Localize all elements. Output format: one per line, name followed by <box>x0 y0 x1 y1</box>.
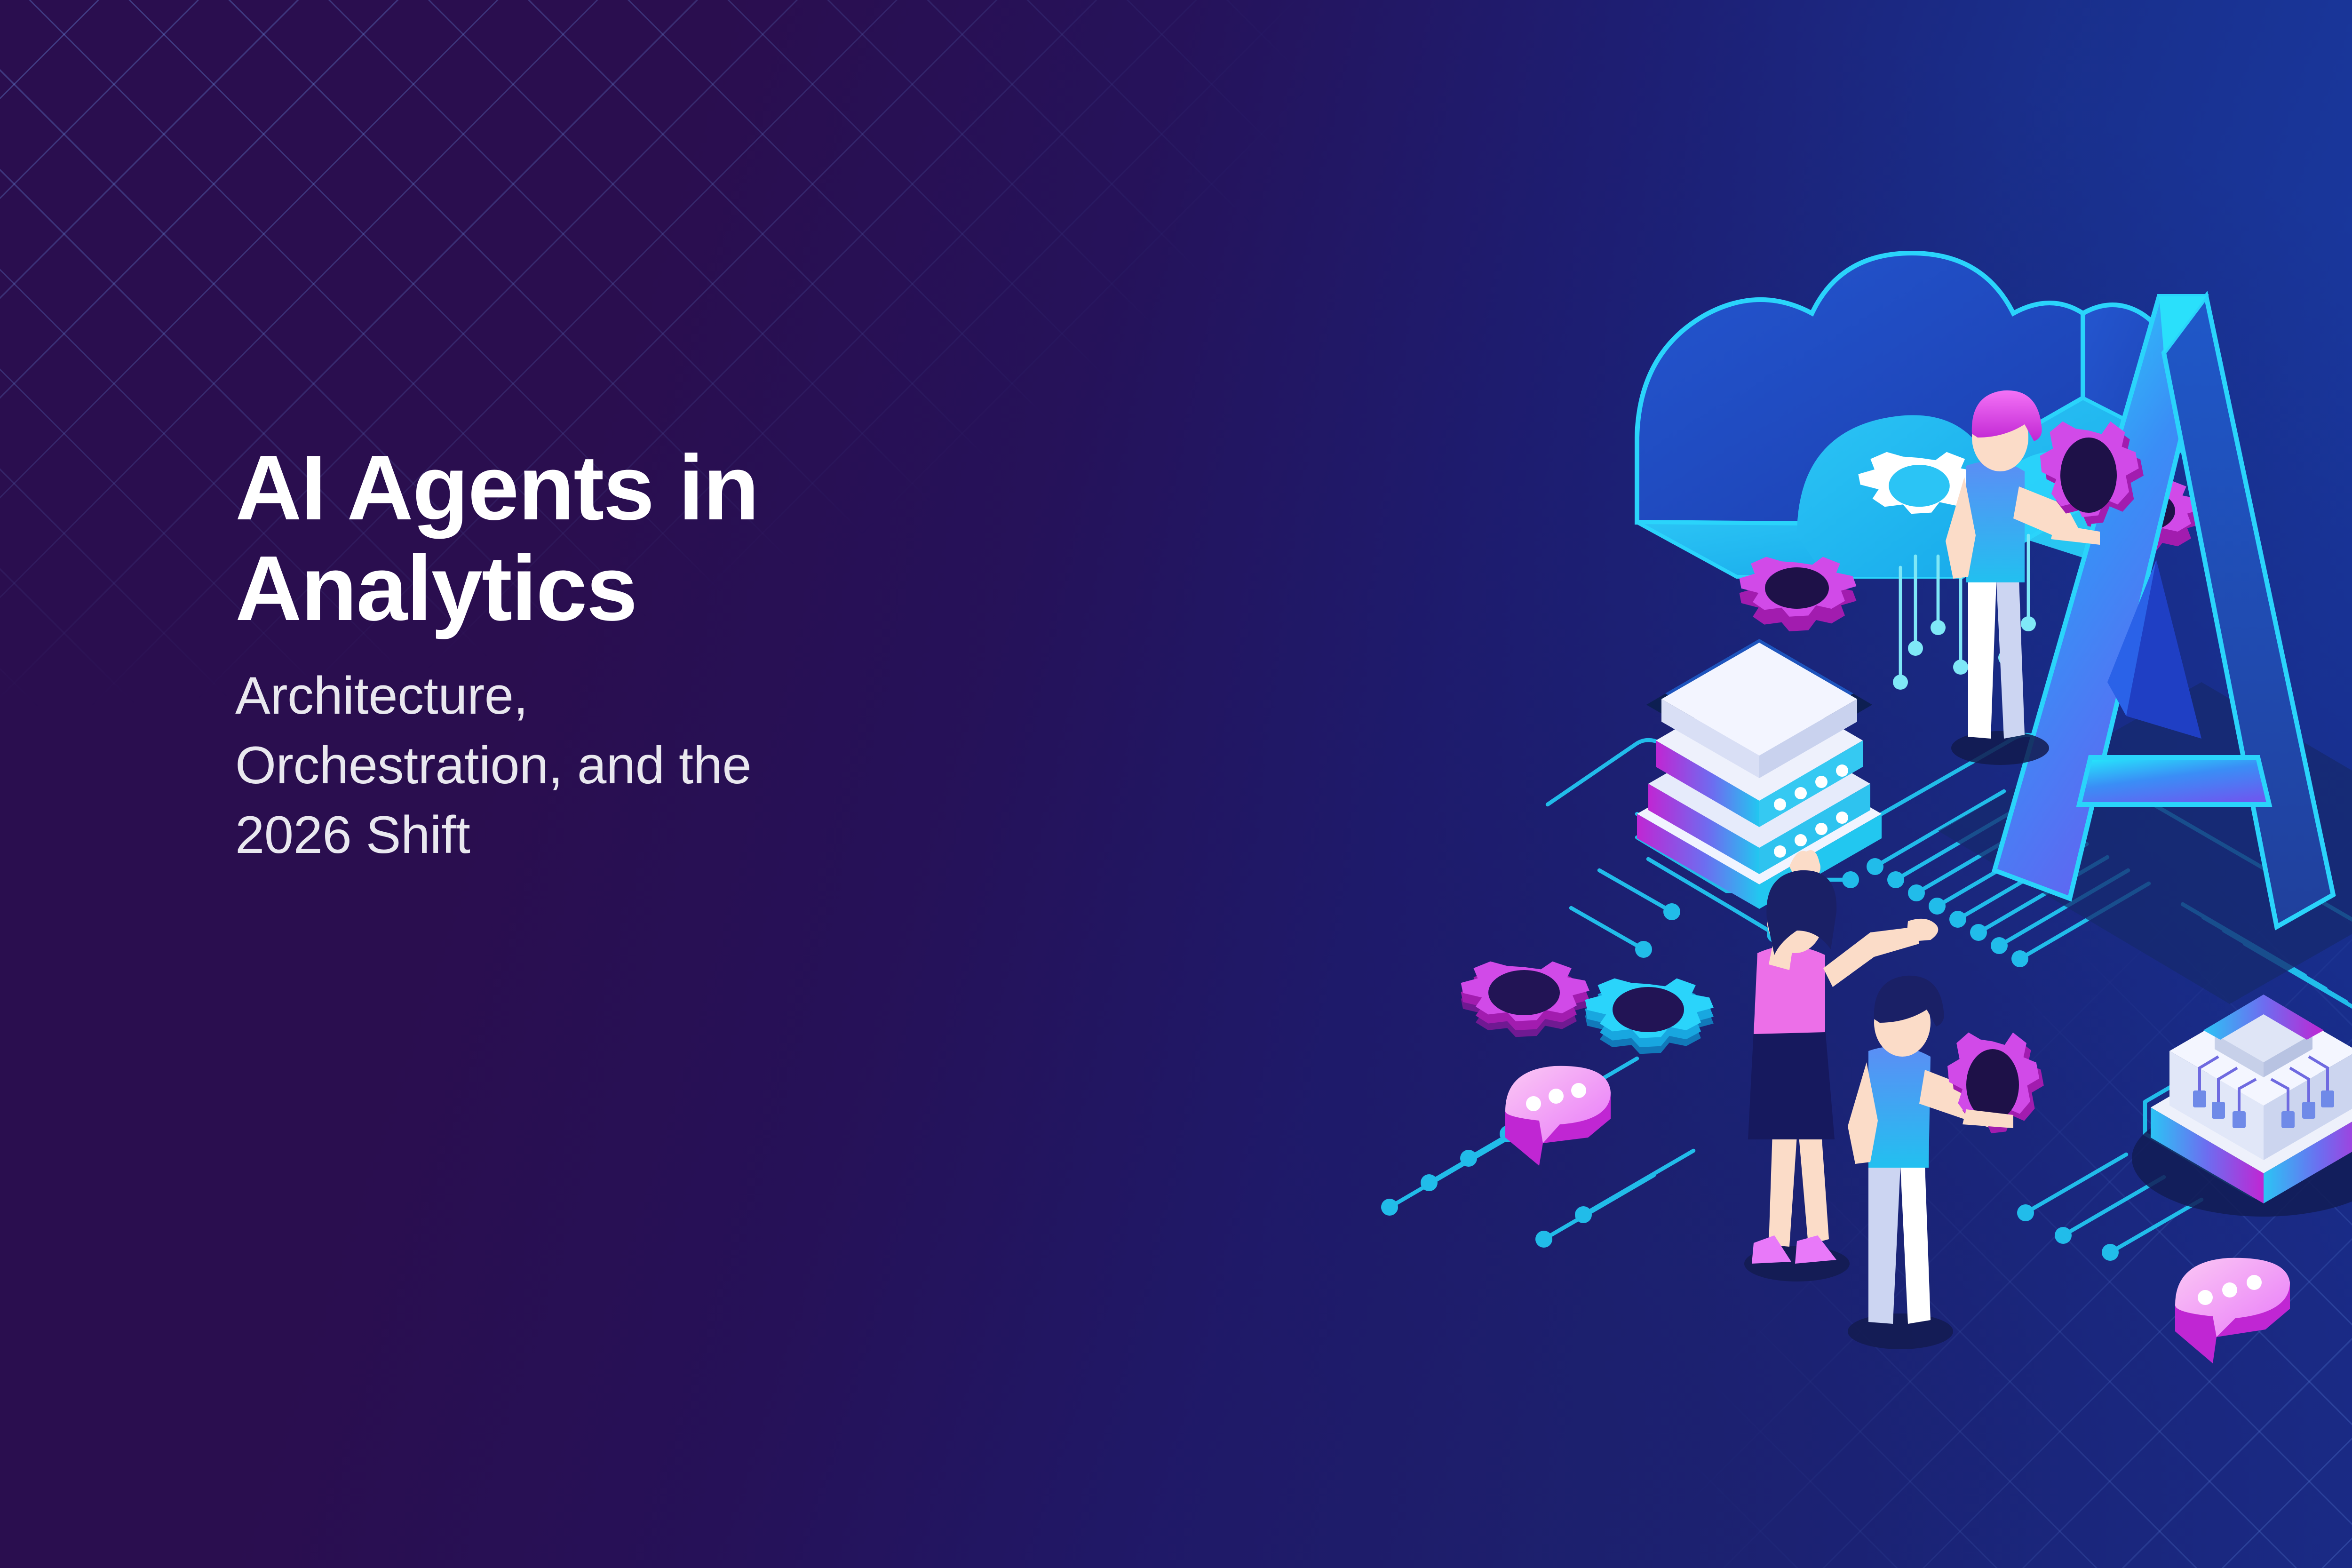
ai-isometric-illustration <box>1355 155 2352 1425</box>
floor-gear-cyan-icon <box>1585 979 1714 1054</box>
speech-bubble-left-icon <box>1505 1066 1611 1166</box>
page-title: AI Agents in Analytics <box>235 438 1261 638</box>
floor-gear-magenta-icon <box>1461 962 1589 1037</box>
speech-bubble-right-icon <box>2175 1258 2290 1363</box>
cpu-chip <box>2132 995 2352 1217</box>
headline-block: AI Agents in Analytics Architecture, Orc… <box>235 438 1261 870</box>
page-subtitle: Architecture, Orchestration, and the 202… <box>235 661 1261 869</box>
banner-canvas: AI Agents in Analytics Architecture, Orc… <box>0 0 2352 1568</box>
standing-man-gear-lower <box>1848 976 2044 1349</box>
server-stack <box>1637 639 1882 909</box>
